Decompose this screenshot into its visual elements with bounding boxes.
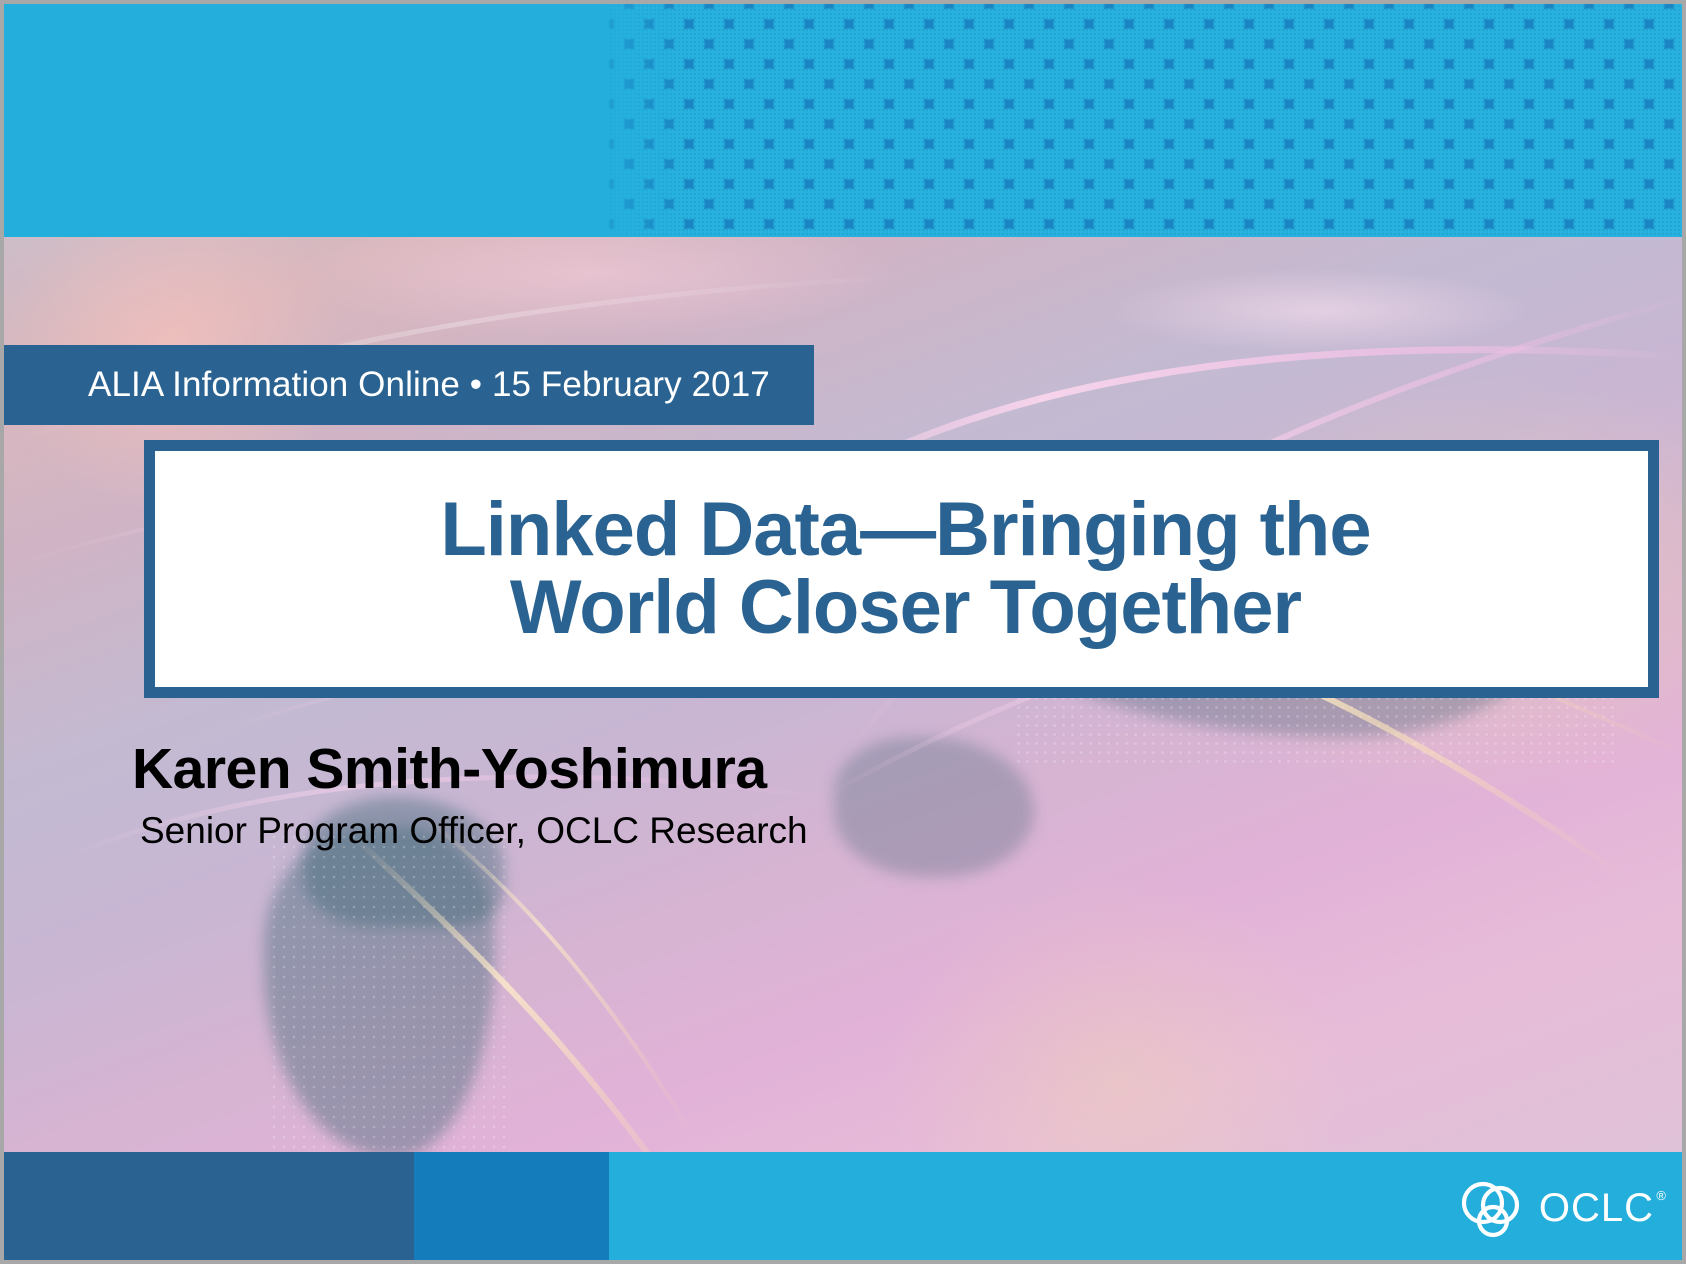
bottom-bar-segment-medium xyxy=(414,1152,609,1264)
bubble-pattern-texture xyxy=(609,4,1686,237)
presentation-slide: ALIA Information Online • 15 February 20… xyxy=(0,0,1686,1264)
slide-title-box: Linked Data—Bringing the World Closer To… xyxy=(144,440,1659,698)
slide-title-line-1: Linked Data—Bringing the xyxy=(155,491,1648,569)
oclc-trademark-symbol: ® xyxy=(1656,1188,1667,1203)
bottom-bar-segment-dark xyxy=(4,1152,414,1264)
author-role: Senior Program Officer, OCLC Research xyxy=(140,810,808,852)
oclc-wordmark: OCLC ® xyxy=(1539,1186,1654,1231)
oclc-wordmark-text: OCLC xyxy=(1539,1186,1654,1230)
slide-title-line-2: World Closer Together xyxy=(155,569,1648,647)
band-gradient-fade xyxy=(564,4,684,237)
bottom-bar-segment-cyan: OCLC ® xyxy=(609,1152,1686,1264)
top-header-band xyxy=(4,4,1686,237)
oclc-circles-mark-icon xyxy=(1457,1177,1527,1239)
oclc-logo: OCLC ® xyxy=(1457,1177,1654,1239)
bottom-color-bar: OCLC ® xyxy=(4,1152,1686,1264)
author-name: Karen Smith-Yoshimura xyxy=(132,736,767,802)
event-banner-text: ALIA Information Online • 15 February 20… xyxy=(4,365,770,405)
event-banner: ALIA Information Online • 15 February 20… xyxy=(4,345,814,425)
